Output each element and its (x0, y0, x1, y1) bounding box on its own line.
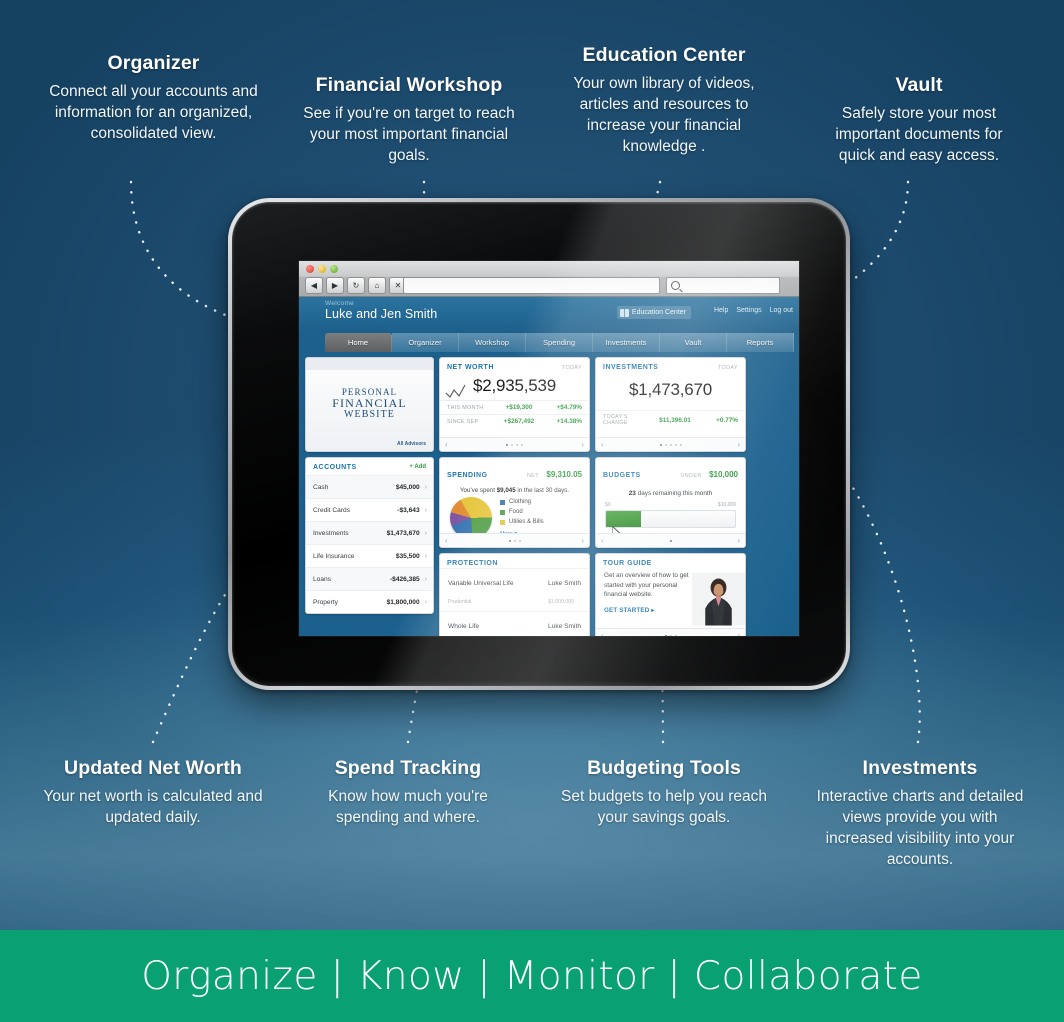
callout-desc: Your own library of videos, articles and… (556, 73, 772, 157)
card-pager[interactable]: ‹ › (596, 533, 745, 547)
tablet-screen: ◀ ▶ ↻ ⌂ ✕ + Welcome Luke and Jen Sm (299, 261, 799, 636)
callout-desc: See if you're on target to reach your mo… (303, 103, 515, 166)
investments-header: INVESTMENTS TODAY (596, 358, 745, 374)
callout-desc: Set budgets to help you reach your savin… (558, 786, 770, 828)
add-account-button[interactable]: + Add (409, 464, 426, 471)
legend-label: Clothing (509, 497, 531, 507)
callout-title: Updated Net Worth (40, 757, 266, 780)
main-nav-tabs: Home Organizer Workshop Spending Investm… (299, 333, 799, 352)
chevron-right-icon: › (425, 553, 427, 560)
net-worth-period: TODAY (562, 365, 582, 371)
table-row[interactable]: Credit Cards -$3,643 › (306, 498, 433, 521)
callout-title: Financial Workshop (303, 74, 515, 97)
plan-amount: $1,000,000 (548, 599, 574, 605)
callout-title: Budgeting Tools (558, 757, 770, 780)
stat-value: +$267,492 (496, 418, 542, 425)
tab-organizer[interactable]: Organizer (392, 333, 459, 352)
stat-label: TODAY'S CHANGE (603, 414, 652, 426)
next-arrow-icon[interactable]: › (737, 631, 740, 636)
chevron-right-icon: › (425, 599, 427, 606)
budgets-status-label: UNDER (680, 473, 701, 479)
net-worth-title: NET WORTH (447, 364, 494, 371)
pager-dots (506, 444, 523, 446)
budgets-status-value: $10,000 (709, 470, 738, 479)
tab-vault[interactable]: Vault (660, 333, 727, 352)
days-remaining: 23 days remaining this month (596, 485, 745, 502)
address-bar[interactable] (403, 277, 660, 294)
spending-net-label: NET (527, 473, 539, 479)
budgets-title: BUDGETS (603, 472, 641, 479)
legend-label: Utilies & Bills (509, 517, 544, 527)
spending-net-value: $9,310.05 (546, 470, 582, 479)
tab-home[interactable]: Home (325, 333, 392, 352)
summary-post: in the last 30 days. (516, 487, 569, 494)
reload-icon[interactable]: ↻ (347, 277, 365, 294)
tab-reports[interactable]: Reports (727, 333, 794, 352)
app-header: Welcome Luke and Jen Smith Education Cen… (299, 297, 799, 333)
plan-carrier: Prudential (448, 599, 471, 605)
plan-name: Variable Universal Life (448, 580, 513, 587)
callout-desc: Safely store your most important documen… (818, 103, 1020, 166)
budget-bar-chart[interactable]: $0 $10,000 SEP 7 (596, 502, 745, 528)
table-row[interactable]: Variable Universal LifePrudential Luke S… (440, 568, 589, 611)
chevron-right-icon: › (425, 507, 427, 514)
footer-banner: Organize | Know | Monitor | Collaborate (0, 930, 1064, 1022)
tour-guide-card: TOUR GUIDE Get an overview of how to get… (595, 553, 746, 636)
user-name: Luke and Jen Smith (325, 307, 437, 321)
investments-card: INVESTMENTS TODAY $1,473,670 TODAY'S CHA… (595, 357, 746, 452)
header-links: Help Settings Log out (714, 307, 793, 314)
plan-owner: Luke Smith (548, 580, 581, 587)
accounts-card: ACCOUNTS + Add Cash $45,000 › Credit Car… (305, 457, 434, 614)
account-value: -$426,385 (390, 576, 420, 583)
get-started-link[interactable]: GET STARTED ▸ (604, 607, 690, 614)
dashboard-column-middle: NET WORTH TODAY $2,935,539 THIS MONTH +$… (439, 357, 590, 636)
welcome-label: Welcome (325, 300, 354, 307)
stat-percent: +$4.79% (542, 404, 582, 411)
stat-percent: +14.38% (542, 418, 582, 425)
pager-dots (665, 635, 677, 637)
account-value: $1,800,000 (387, 599, 420, 606)
chevron-right-icon: › (425, 484, 427, 491)
callout-vault: Vault Safely store your most important d… (818, 74, 1020, 166)
callout-title: Vault (818, 74, 1020, 97)
days-remaining-text: days remaining this month (636, 490, 712, 497)
dashboard-column-left: PERSONAL FINANCIAL WEBSITE All Advisors … (305, 357, 434, 636)
budgets-card: BUDGETS UNDER $10,000 23 days remaining … (595, 457, 746, 548)
pager-dots (660, 444, 682, 446)
prev-arrow-icon[interactable]: ‹ (445, 536, 448, 545)
logout-link[interactable]: Log out (770, 307, 793, 314)
legend-label: Food (509, 507, 523, 517)
spending-title: SPENDING (447, 472, 488, 479)
tour-guide-description: Get an overview of how to get started wi… (604, 571, 690, 600)
prev-arrow-icon[interactable]: ‹ (445, 440, 448, 449)
help-link[interactable]: Help (714, 307, 728, 314)
education-center-label: Education Center (632, 309, 686, 316)
browser-chrome: ◀ ▶ ↻ ⌂ ✕ + (299, 261, 799, 297)
budget-axis: $0 $10,000 (605, 502, 736, 508)
table-row[interactable]: Investments $1,473,670 › (306, 521, 433, 544)
logo-line-3: WEBSITE (332, 410, 407, 421)
next-arrow-icon[interactable]: › (581, 536, 584, 545)
search-icon (671, 281, 680, 290)
callout-title: Organizer (46, 52, 261, 75)
accounts-card-header: ACCOUNTS + Add (306, 458, 433, 475)
spending-net: NET $9,310.05 (527, 464, 582, 482)
table-row[interactable]: Property $1,800,000 › (306, 590, 433, 613)
account-name: Property (313, 599, 387, 606)
table-row[interactable]: Cash $45,000 › (306, 475, 433, 498)
callout-financial-workshop: Financial Workshop See if you're on targ… (303, 74, 515, 166)
stat-label: SINCE SEP (447, 419, 496, 425)
tablet-bezel: ◀ ▶ ↻ ⌂ ✕ + Welcome Luke and Jen Sm (232, 202, 846, 686)
stat-value: +$19,300 (496, 404, 542, 411)
settings-link[interactable]: Settings (736, 307, 761, 314)
minimize-icon[interactable] (318, 265, 326, 273)
card-pager[interactable]: ‹ › (440, 533, 589, 547)
budgets-status: UNDER $10,000 (680, 464, 738, 482)
callout-investments: Investments Interactive charts and detai… (815, 757, 1025, 870)
account-value: -$3,643 (397, 507, 419, 514)
callout-organizer: Organizer Connect all your accounts and … (46, 52, 261, 144)
callout-spend-tracking: Spend Tracking Know how much you're spen… (302, 757, 514, 828)
dashboard: PERSONAL FINANCIAL WEBSITE All Advisors … (299, 352, 799, 636)
next-arrow-icon[interactable]: › (581, 440, 584, 449)
prev-arrow-icon[interactable]: ‹ (601, 536, 604, 545)
site-logo: PERSONAL FINANCIAL WEBSITE (332, 388, 407, 421)
tour-guide-header: TOUR GUIDE (596, 554, 745, 568)
account-name: Investments (313, 530, 387, 537)
home-icon[interactable]: ⌂ (368, 277, 386, 294)
card-pager[interactable]: ‹ › (596, 437, 745, 451)
pager-dots (509, 540, 521, 542)
infographic-stage: Organizer Connect all your accounts and … (0, 0, 1064, 1022)
chevron-right-icon: › (425, 530, 427, 537)
investments-amount: $1,473,670 (596, 380, 745, 400)
spending-card: SPENDING NET $9,310.05 You've spent $9,0… (439, 457, 590, 548)
account-name: Credit Cards (313, 507, 397, 514)
branding-card: PERSONAL FINANCIAL WEBSITE All Advisors (305, 357, 434, 452)
window-controls[interactable] (306, 265, 338, 273)
dashboard-column-right: INVESTMENTS TODAY $1,473,670 TODAY'S CHA… (595, 357, 746, 636)
forward-icon[interactable]: ▶ (326, 277, 344, 294)
axis-max-label: $10,000 (718, 502, 736, 508)
callout-desc: Interactive charts and detailed views pr… (815, 786, 1025, 870)
investments-stat-row: TODAY'S CHANGE $11,396.01 +0.77% (596, 410, 745, 429)
legend-item[interactable]: Food (500, 507, 544, 517)
tour-guide-body: Get an overview of how to get started wi… (596, 568, 745, 627)
card-pager[interactable]: ‹ › (440, 437, 589, 451)
table-row[interactable]: Whole LifeGuardian Luke Smith$500,000 (440, 611, 589, 636)
callout-education-center: Education Center Your own library of vid… (556, 44, 772, 157)
tab-workshop[interactable]: Workshop (459, 333, 526, 352)
table-row[interactable]: Life Insurance $35,500 › (306, 544, 433, 567)
next-arrow-icon[interactable]: › (737, 536, 740, 545)
stat-label: THIS MONTH (447, 405, 496, 411)
callout-desc: Know how much you're spending and where. (302, 786, 514, 828)
investments-title: INVESTMENTS (603, 364, 658, 371)
stat-value: $11,396.01 (652, 417, 698, 424)
summary-pre: You've spent (460, 487, 497, 494)
tab-investments[interactable]: Investments (593, 333, 660, 352)
investments-period: TODAY (718, 365, 738, 371)
tablet-device: ◀ ▶ ↻ ⌂ ✕ + Welcome Luke and Jen Sm (228, 198, 850, 690)
book-icon (620, 309, 629, 317)
accounts-title: ACCOUNTS (313, 464, 357, 471)
back-icon[interactable]: ◀ (305, 277, 323, 294)
account-name: Loans (313, 576, 390, 583)
sparkline-icon (445, 384, 467, 400)
footer-tagline: Organize | Know | Monitor | Collaborate (141, 954, 923, 999)
pager-dots (670, 540, 672, 542)
all-advisors-label: All Advisors (397, 441, 426, 447)
budgets-header: BUDGETS UNDER $10,000 (596, 458, 745, 485)
account-value: $45,000 (396, 484, 420, 491)
tour-guide-text-block: Get an overview of how to get started wi… (604, 571, 690, 627)
callout-updated-net-worth: Updated Net Worth Your net worth is calc… (40, 757, 266, 828)
callout-title: Education Center (556, 44, 772, 67)
plan-name: Whole Life (448, 623, 479, 630)
plan-owner: Luke Smith (548, 623, 581, 630)
legend-item[interactable]: Utilies & Bills (500, 517, 544, 527)
callout-desc: Connect all your accounts and informatio… (46, 81, 261, 144)
prev-arrow-icon[interactable]: ‹ (601, 440, 604, 449)
protection-header: PROTECTION (440, 554, 589, 568)
account-value: $1,473,670 (387, 530, 420, 537)
callout-desc: Your net worth is calculated and updated… (40, 786, 266, 828)
table-row[interactable]: Loans -$426,385 › (306, 567, 433, 590)
account-value: $35,500 (396, 553, 420, 560)
net-worth-card: NET WORTH TODAY $2,935,539 THIS MONTH +$… (439, 357, 590, 452)
axis-min-label: $0 (605, 502, 611, 508)
browser-search-input[interactable] (666, 277, 780, 294)
stat-percent: +0.77% (698, 417, 738, 424)
education-center-button[interactable]: Education Center (617, 306, 691, 319)
spending-header: SPENDING NET $9,310.05 (440, 458, 589, 485)
account-name: Life Insurance (313, 553, 396, 560)
account-name: Cash (313, 484, 396, 491)
summary-amount: $9,045 (497, 487, 516, 494)
chevron-right-icon: › (425, 576, 427, 583)
callout-title: Investments (815, 757, 1025, 780)
protection-title: PROTECTION (447, 560, 498, 567)
card-pager[interactable]: ‹ › (596, 628, 745, 636)
spending-summary: You've spent $9,045 in the last 30 days. (440, 485, 589, 497)
protection-card: PROTECTION Variable Universal LifePruden… (439, 553, 590, 636)
days-remaining-count: 23 (629, 490, 636, 497)
close-icon[interactable] (306, 265, 314, 273)
net-worth-stat-row: SINCE SEP +$267,492 +14.38% (440, 414, 589, 428)
legend-item[interactable]: Clothing (500, 497, 544, 507)
next-arrow-icon[interactable]: › (737, 440, 740, 449)
tab-spending[interactable]: Spending (526, 333, 593, 352)
prev-arrow-icon[interactable]: ‹ (601, 631, 604, 636)
card-top-strip (306, 358, 433, 370)
presenter-photo (692, 571, 745, 627)
budget-bar-fill (606, 511, 641, 527)
net-worth-header: NET WORTH TODAY (440, 358, 589, 374)
net-worth-stat-row: THIS MONTH +$19,300 +$4.79% (440, 400, 589, 414)
maximize-icon[interactable] (330, 265, 338, 273)
tour-guide-title: TOUR GUIDE (603, 560, 652, 567)
callout-title: Spend Tracking (302, 757, 514, 780)
callout-budgeting-tools: Budgeting Tools Set budgets to help you … (558, 757, 770, 828)
